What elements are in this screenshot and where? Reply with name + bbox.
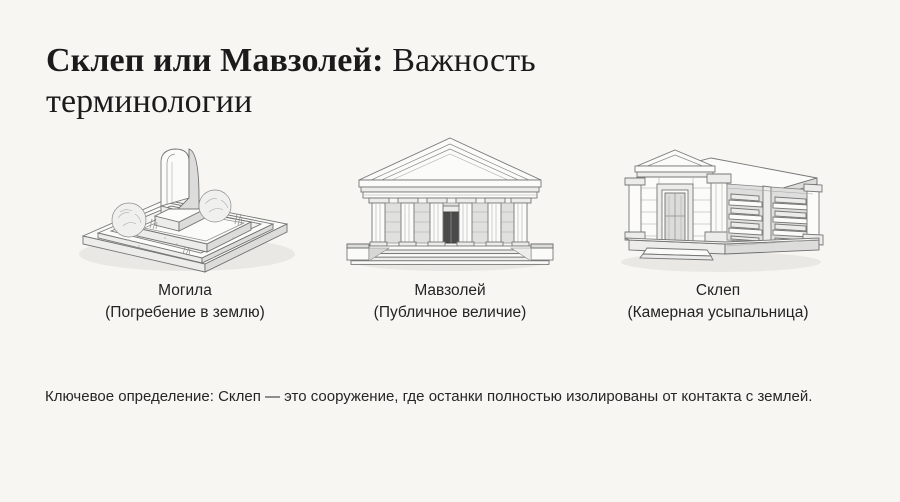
key-definition-note: Ключевое определение: Склеп — это сооруж… [45,385,851,409]
mausoleum-caption-sub: (Публичное величие) [300,302,600,324]
title-line-1: Склеп или Мавзолей: Важность [46,40,746,81]
crypt-caption-sub: (Камерная усыпальница) [568,302,868,324]
crypt-niches-icon [568,128,868,276]
title-strong-part: Склеп или Мавзолей: [46,42,384,79]
crypt-caption: Склеп (Камерная усыпальница) [568,280,868,324]
figure-mausoleum: Мавзолей (Публичное величие) [300,128,600,338]
mausoleum-caption: Мавзолей (Публичное величие) [300,280,600,324]
title-light-part: Важность [384,42,536,79]
classical-temple-icon [300,128,600,276]
grave-caption-main: Могила [35,280,335,302]
figure-crypt: Склеп (Камерная усыпальница) [568,128,868,338]
page-title: Склеп или Мавзолей: Важность терминологи… [46,40,746,122]
figures-row: Могила (Погребение в землю) [0,128,900,338]
grave-headstone-icon [35,128,335,276]
title-line-2: терминологии [46,81,746,122]
mausoleum-caption-main: Мавзолей [300,280,600,302]
grave-caption-sub: (Погребение в землю) [35,302,335,324]
grave-caption: Могила (Погребение в землю) [35,280,335,324]
slide-canvas: Склеп или Мавзолей: Важность терминологи… [0,0,900,502]
figure-grave: Могила (Погребение в землю) [35,128,335,338]
crypt-caption-main: Склеп [568,280,868,302]
